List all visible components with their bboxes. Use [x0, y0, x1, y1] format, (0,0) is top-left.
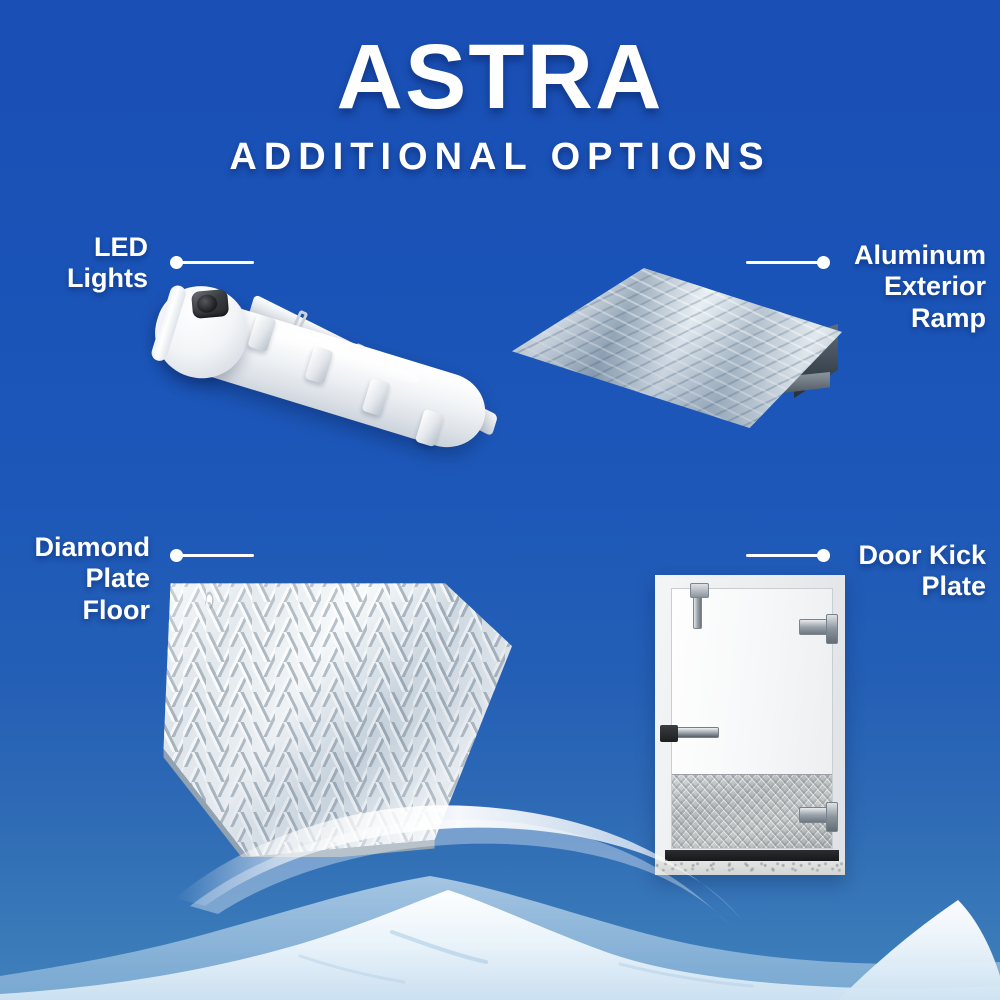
leader-line-aluminum-ramp	[746, 255, 830, 269]
product-image-led-light-fixture	[150, 268, 520, 438]
callout-aluminum-exterior-ramp: Aluminum Exterior Ramp	[836, 240, 986, 334]
leader-line-door-kick-plate	[746, 548, 830, 562]
leader-dot-icon	[817, 549, 830, 562]
callout-label-aluminum-exterior-ramp: Aluminum Exterior Ramp	[836, 240, 986, 334]
callout-door-kick-plate: Door Kick Plate	[836, 540, 986, 603]
leader-stroke	[746, 261, 823, 264]
cable-gland-icon	[191, 289, 229, 319]
leader-stroke	[746, 554, 823, 557]
aluminum-ramp-icon	[512, 268, 842, 428]
product-image-aluminum-ramp	[512, 268, 842, 428]
callout-diamond-plate-floor: Diamond Plate Floor	[10, 532, 150, 626]
page-subtitle: ADDITIONAL OPTIONS	[0, 136, 1000, 179]
callout-label-led-lights: LED Lights	[18, 232, 148, 295]
header: ASTRA ADDITIONAL OPTIONS	[0, 0, 1000, 179]
snow-ice-scene	[0, 780, 1000, 1000]
leader-line-diamond-plate-floor	[170, 548, 254, 562]
page-title: ASTRA	[0, 32, 1000, 122]
callout-label-door-kick-plate: Door Kick Plate	[836, 540, 986, 603]
door-top-latch-icon	[693, 593, 702, 629]
leader-stroke	[177, 554, 254, 557]
snow-peak-right	[838, 900, 1000, 1000]
door-hinge-icon	[799, 619, 831, 635]
poster-canvas: ASTRA ADDITIONAL OPTIONS LED Lights	[0, 0, 1000, 1000]
door-handle-icon	[667, 727, 719, 738]
led-light-fixture-icon	[118, 251, 522, 522]
callout-led-lights: LED Lights	[18, 232, 148, 295]
callout-label-diamond-plate-floor: Diamond Plate Floor	[10, 532, 150, 626]
